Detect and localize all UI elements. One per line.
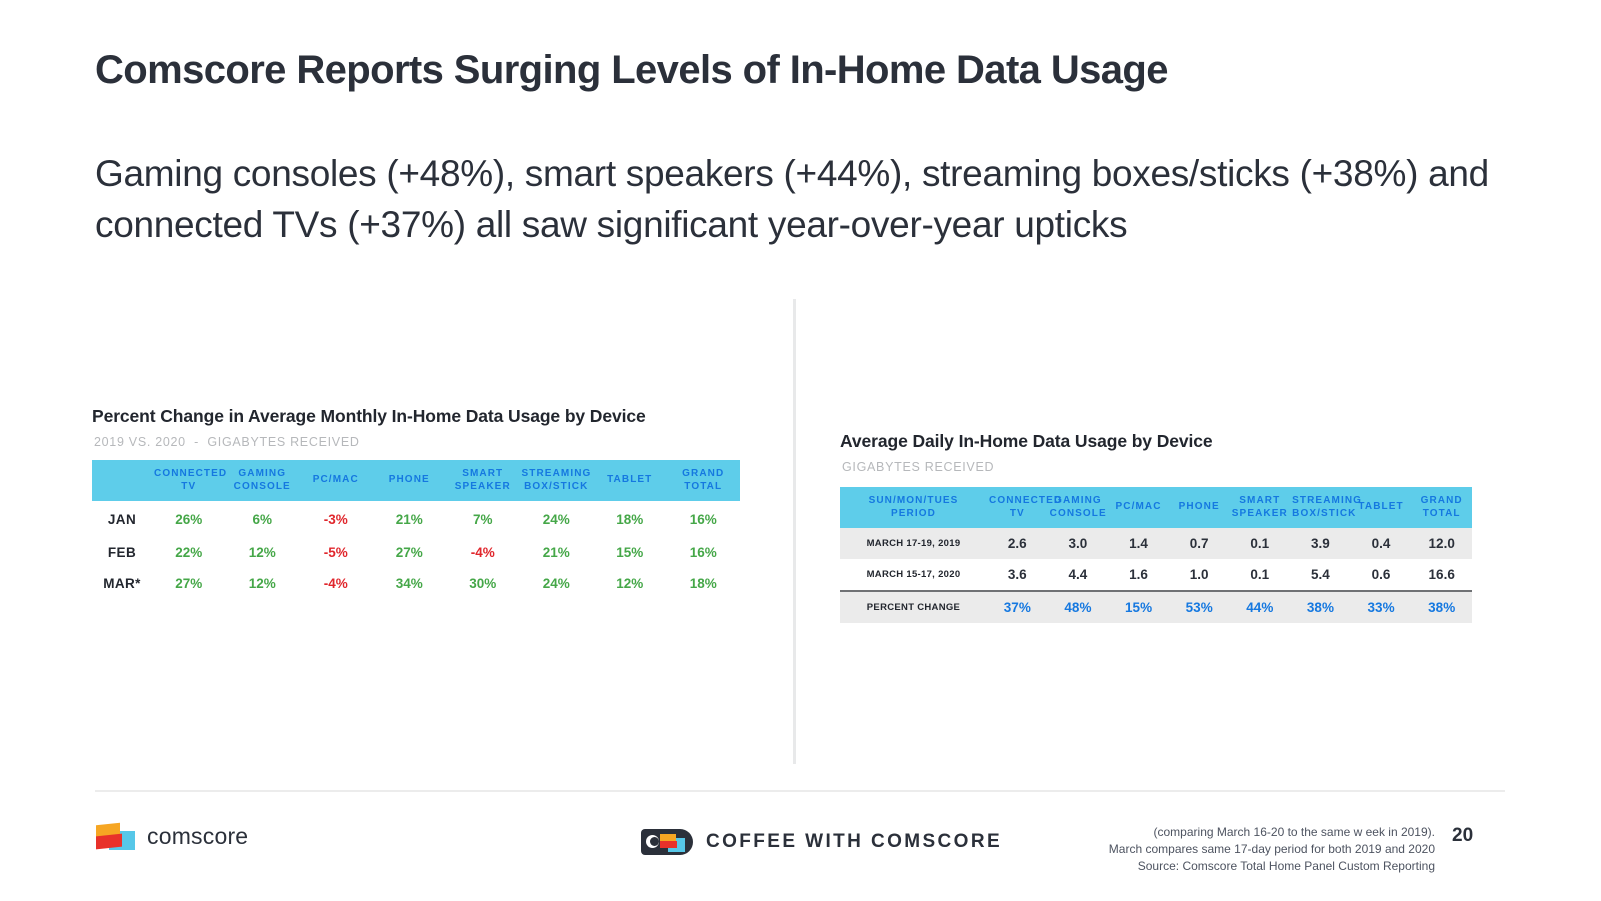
cell-value: 0.1 [1230,559,1291,591]
cell-value: 27% [152,568,226,599]
cell-value: 3.9 [1290,528,1351,559]
col-header-period: SUN/MON/TUES PERIOD [840,487,987,528]
cell-value: 30% [446,568,520,599]
cell-value: 5.4 [1290,559,1351,591]
cell-value: 38% [1290,591,1351,623]
footer-divider [95,790,1505,792]
cell-value: 48% [1048,591,1109,623]
cell-value: 34% [373,568,447,599]
cell-value: 6% [226,501,300,537]
cell-value: 12% [593,568,667,599]
col-header-tablet: TABLET [1351,487,1412,528]
source-line-2: March compares same 17-day period for bo… [815,841,1435,858]
table-row: JAN 26% 6% -3% 21% 7% 24% 18% 16% [92,501,740,537]
cell-value: 53% [1169,591,1230,623]
col-header-rowlabel [92,460,152,501]
coffee-cup-icon [641,829,693,855]
left-panel-title: Percent Change in Average Monthly In-Hom… [92,404,740,428]
row-label: MAR* [92,568,152,599]
cell-value: 44% [1230,591,1291,623]
col-header-streaming-box: STREAMING BOX/STICK [1290,487,1351,528]
daily-usage-table: SUN/MON/TUES PERIOD CONNECTED TV GAMING … [840,487,1472,623]
cell-value: 7% [446,501,520,537]
table-row: MAR* 27% 12% -4% 34% 30% 24% 12% 18% [92,568,740,599]
cell-value: 21% [373,501,447,537]
comscore-logo: comscore [95,822,248,850]
monthly-percent-change-table: CONNECTED TV GAMING CONSOLE PC/MAC PHONE… [92,460,740,599]
row-label: PERCENT CHANGE [840,591,987,623]
cell-value: 1.4 [1108,528,1169,559]
col-header-connected-tv: CONNECTED TV [987,487,1048,528]
left-panel: Percent Change in Average Monthly In-Hom… [92,404,740,599]
left-panel-subtitle: 2019 VS. 2020 - GIGABYTES RECEIVED [94,435,740,449]
cell-value: -3% [299,501,373,537]
source-note: (comparing March 16-20 to the same w eek… [815,824,1435,875]
cell-value: 26% [152,501,226,537]
cell-value: 16% [667,501,741,537]
cell-value: 1.6 [1108,559,1169,591]
row-label: FEB [92,537,152,568]
col-header-grand-total: GRAND TOTAL [667,460,741,501]
col-header-gaming-console: GAMING CONSOLE [1048,487,1109,528]
cell-value: 15% [593,537,667,568]
cell-value: -4% [299,568,373,599]
cell-value: -4% [446,537,520,568]
right-panel-title: Average Daily In-Home Data Usage by Devi… [840,429,1472,453]
slide-canvas: Comscore Reports Surging Levels of In-Ho… [0,0,1601,901]
col-header-pc-mac: PC/MAC [299,460,373,501]
table-row: FEB 22% 12% -5% 27% -4% 21% 15% 16% [92,537,740,568]
cell-value: 24% [520,501,594,537]
row-label: MARCH 17-19, 2019 [840,528,987,559]
cell-value: 22% [152,537,226,568]
cell-value: 16.6 [1411,559,1472,591]
row-label: MARCH 15-17, 2020 [840,559,987,591]
cell-value: 21% [520,537,594,568]
source-line-3: Source: Comscore Total Home Panel Custom… [815,858,1435,875]
comscore-wordmark: comscore [147,823,248,850]
col-header-smart-speaker: SMART SPEAKER [1230,487,1291,528]
col-header-tablet: TABLET [593,460,667,501]
table-header-row: CONNECTED TV GAMING CONSOLE PC/MAC PHONE… [92,460,740,501]
cell-value: 0.4 [1351,528,1412,559]
cell-value: 0.1 [1230,528,1291,559]
monthly-table-body: JAN 26% 6% -3% 21% 7% 24% 18% 16% FEB 22… [92,501,740,599]
col-header-gaming-console: GAMING CONSOLE [226,460,300,501]
cell-value: 2.6 [987,528,1048,559]
cell-value: 38% [1411,591,1472,623]
cell-value: 18% [593,501,667,537]
cell-value: 3.0 [1048,528,1109,559]
right-panel: Average Daily In-Home Data Usage by Devi… [840,429,1472,623]
cell-value: 12% [226,537,300,568]
table-row: MARCH 17-19, 2019 2.6 3.0 1.4 0.7 0.1 3.… [840,528,1472,559]
col-header-grand-total: GRAND TOTAL [1411,487,1472,528]
cell-value: 16% [667,537,741,568]
page-title: Comscore Reports Surging Levels of In-Ho… [95,47,1515,93]
col-header-connected-tv: CONNECTED TV [152,460,226,501]
right-panel-subtitle: GIGABYTES RECEIVED [842,460,1472,474]
cell-value: -5% [299,537,373,568]
table-row: MARCH 15-17, 2020 3.6 4.4 1.6 1.0 0.1 5.… [840,559,1472,591]
col-header-pc-mac: PC/MAC [1108,487,1169,528]
table-row-percent-change: PERCENT CHANGE 37% 48% 15% 53% 44% 38% 3… [840,591,1472,623]
table-header-row: SUN/MON/TUES PERIOD CONNECTED TV GAMING … [840,487,1472,528]
cell-value: 33% [1351,591,1412,623]
cell-value: 27% [373,537,447,568]
cell-value: 0.7 [1169,528,1230,559]
page-number: 20 [1452,825,1473,847]
page-subtitle: Gaming consoles (+48%), smart speakers (… [95,148,1507,250]
col-header-phone: PHONE [1169,487,1230,528]
cell-value: 0.6 [1351,559,1412,591]
col-header-phone: PHONE [373,460,447,501]
panel-divider [793,299,796,764]
col-header-streaming-box: STREAMING BOX/STICK [520,460,594,501]
comscore-mark-icon [95,822,135,850]
cell-value: 18% [667,568,741,599]
col-header-smart-speaker: SMART SPEAKER [446,460,520,501]
cell-value: 37% [987,591,1048,623]
source-line-1: (comparing March 16-20 to the same w eek… [815,824,1435,841]
cell-value: 4.4 [1048,559,1109,591]
cell-value: 12% [226,568,300,599]
daily-table-body: MARCH 17-19, 2019 2.6 3.0 1.4 0.7 0.1 3.… [840,528,1472,623]
cell-value: 3.6 [987,559,1048,591]
cell-value: 1.0 [1169,559,1230,591]
cell-value: 12.0 [1411,528,1472,559]
cell-value: 15% [1108,591,1169,623]
row-label: JAN [92,501,152,537]
cell-value: 24% [520,568,594,599]
